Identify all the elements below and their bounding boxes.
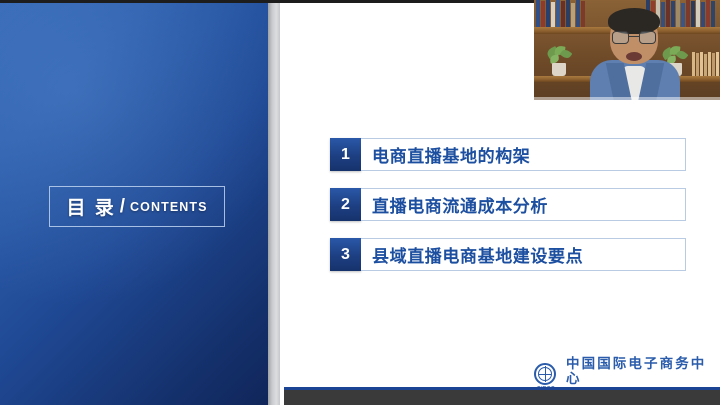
glasses-bridge: [629, 36, 639, 37]
contents-item-number: 2: [330, 188, 361, 221]
ciecc-emblem-icon: CIECC: [533, 362, 559, 388]
plant-pot: [552, 63, 566, 76]
contents-title-separator: /: [120, 196, 125, 218]
contents-item-label: 县域直播电商基地建设要点: [361, 242, 583, 267]
slide-left-blue-panel: 目 录 / CONTENTS: [0, 3, 268, 405]
contents-title-chinese: 目 录: [66, 193, 115, 220]
bookshelf-books-top-left: [536, 0, 585, 27]
contents-title-english: CONTENTS: [130, 200, 208, 214]
contents-item-label: 直播电商流通成本分析: [361, 192, 548, 217]
player-bottom-bar[interactable]: [284, 390, 720, 405]
contents-title-box: 目 录 / CONTENTS: [49, 186, 225, 227]
logo-vertical-bar: [545, 366, 547, 382]
screen-capture: 目 录 / CONTENTS 1 电商直播基地的构架 2 直播电商流通成本分析 …: [0, 0, 720, 405]
decorative-plant-left: [546, 46, 572, 76]
organization-name-chinese: 中国国际电子商务中心: [566, 356, 720, 386]
glasses-lens-left: [612, 31, 629, 44]
contents-item-label: 电商直播基地的构架: [361, 142, 530, 167]
contents-item-box: 县域直播电商基地建设要点: [361, 238, 686, 271]
contents-item-box: 直播电商流通成本分析: [361, 188, 686, 221]
video-bottom-edge: [534, 97, 720, 100]
glasses-lens-right: [639, 31, 656, 44]
contents-item-1[interactable]: 1 电商直播基地的构架: [330, 138, 686, 171]
contents-item-2[interactable]: 2 直播电商流通成本分析: [330, 188, 686, 221]
panel-divider-strip: [268, 3, 280, 405]
speaker-mouth: [626, 52, 642, 61]
webcam-video-overlay[interactable]: [534, 0, 720, 100]
contents-item-number: 3: [330, 238, 361, 271]
contents-list: 1 电商直播基地的构架 2 直播电商流通成本分析 3 县域直播电商基地建设要点: [330, 138, 686, 288]
contents-item-number: 1: [330, 138, 361, 171]
contents-item-3[interactable]: 3 县域直播电商基地建设要点: [330, 238, 686, 271]
contents-item-box: 电商直播基地的构架: [361, 138, 686, 171]
speaker-glasses-icon: [612, 31, 656, 44]
